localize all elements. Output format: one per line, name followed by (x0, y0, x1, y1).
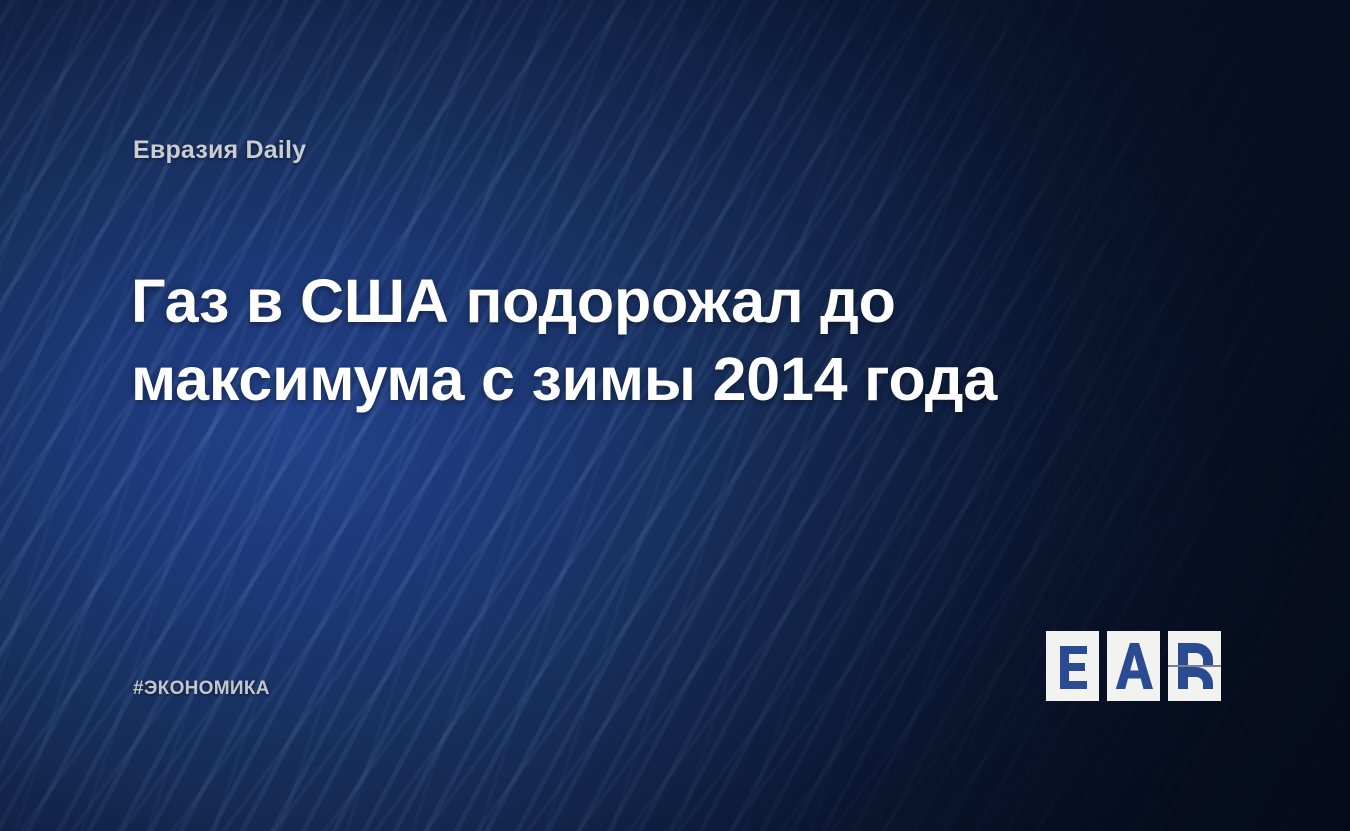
letter-a-icon (1115, 643, 1153, 689)
rubric-tag-economy[interactable]: #ЭКОНОМИКА (133, 678, 270, 700)
logo-tile-a (1107, 631, 1160, 701)
letter-e-icon (1056, 643, 1090, 689)
eadaily-logo[interactable] (1046, 631, 1222, 701)
page-title: Газ в США подорожал до максимума с зимы … (131, 262, 1151, 418)
letter-d-split-icon (1172, 631, 1218, 701)
card-content: Евразия Daily Газ в США подорожал до мак… (0, 0, 1350, 831)
logo-tile-d (1168, 631, 1221, 701)
brand-title: Евразия Daily (133, 136, 306, 165)
news-card: Евразия Daily Газ в США подорожал до мак… (0, 0, 1350, 831)
logo-tile-e (1046, 631, 1099, 701)
